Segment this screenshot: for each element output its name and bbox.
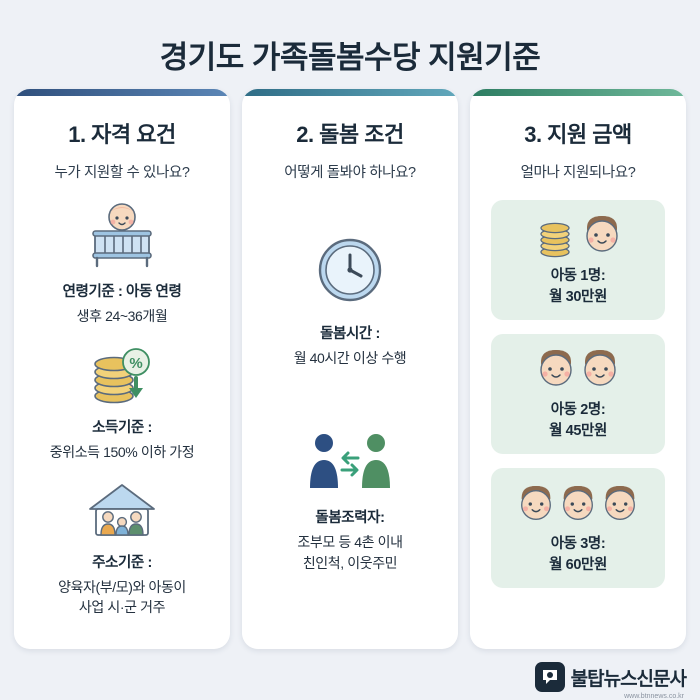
list-item: 돌봄시간 : 월 40시간 이상 수행 <box>242 234 458 368</box>
amount-box-three-children: 아동 3명: 월 60만원 <box>491 468 665 588</box>
item-label: 연령기준 : 아동 연령 <box>63 280 182 301</box>
infographic-page: 경기도 가족돌봄수당 지원기준 1. 자격 요건 누가 지원할 수 있나요? <box>0 0 700 700</box>
coins-one-child-icon <box>533 212 623 258</box>
card-care-conditions: 2. 돌봄 조건 어떻게 돌봐야 하나요? 돌봄시간 : 월 40시간 이상 수… <box>242 89 458 649</box>
amount-text: 아동 1명: 월 30만원 <box>549 266 607 308</box>
card-heading: 2. 돌봄 조건 <box>296 117 404 149</box>
list-item: % 소득기준 : 중위소득 150% 이하 가정 <box>14 344 230 462</box>
clock-icon <box>314 234 386 306</box>
list-item: 주소기준 : 양육자(부/모)와 아동이 사업 시·군 거주 <box>14 479 230 618</box>
item-desc: 중위소득 150% 이하 가정 <box>50 442 195 462</box>
item-label: 돌봄시간 : <box>320 322 380 343</box>
watermark-name: 불탑뉴스신문사 <box>571 664 686 691</box>
watermark: 불탑뉴스신문사 <box>535 662 686 692</box>
list-item: 돌봄조력자: 조부모 등 4촌 이내 친인척, 이웃주민 <box>242 428 458 573</box>
card-subheading: 누가 지원할 수 있나요? <box>54 161 189 182</box>
watermark-url: www.btnnews.co.kr <box>624 693 684 700</box>
amount-box-one-child: 아동 1명: 월 30만원 <box>491 200 665 320</box>
two-people-exchange-icon <box>302 428 398 492</box>
amount-box-two-children: 아동 2명: 월 45만원 <box>491 334 665 454</box>
house-family-icon <box>80 479 164 541</box>
card-accent-bar <box>242 89 458 96</box>
coins-percent-icon: % <box>84 344 160 406</box>
item-desc: 생후 24~36개월 <box>77 306 168 326</box>
amount-text: 아동 3명: 월 60만원 <box>549 534 607 576</box>
columns-container: 1. 자격 요건 누가 지원할 수 있나요? <box>0 83 700 649</box>
card-subheading: 어떻게 돌봐야 하나요? <box>284 161 415 182</box>
card-subheading: 얼마나 지원되나요? <box>521 161 636 182</box>
three-children-icon <box>516 480 640 526</box>
item-label: 돌봄조력자: <box>315 506 384 527</box>
two-children-icon <box>535 346 621 392</box>
card-heading: 3. 지원 금액 <box>524 117 632 149</box>
item-label: 소득기준 : <box>92 416 152 437</box>
card-accent-bar <box>470 89 686 96</box>
card-support-amount: 3. 지원 금액 얼마나 지원되나요? <box>470 89 686 649</box>
speech-bubble-logo-icon <box>535 662 565 692</box>
item-desc: 조부모 등 4촌 이내 친인척, 이웃주민 <box>297 532 402 573</box>
item-desc: 월 40시간 이상 수행 <box>294 348 407 368</box>
item-label: 주소기준 : <box>92 551 152 572</box>
item-desc: 양육자(부/모)와 아동이 사업 시·군 거주 <box>58 577 186 618</box>
list-item: 연령기준 : 아동 연령 생후 24~36개월 <box>14 198 230 326</box>
baby-crib-icon <box>85 198 159 270</box>
page-title: 경기도 가족돌봄수당 지원기준 <box>0 0 700 83</box>
card-heading: 1. 자격 요건 <box>68 117 176 149</box>
card-qualification: 1. 자격 요건 누가 지원할 수 있나요? <box>14 89 230 649</box>
amount-text: 아동 2명: 월 45만원 <box>549 400 607 442</box>
svg-text:%: % <box>129 355 142 372</box>
card-accent-bar <box>14 89 230 96</box>
